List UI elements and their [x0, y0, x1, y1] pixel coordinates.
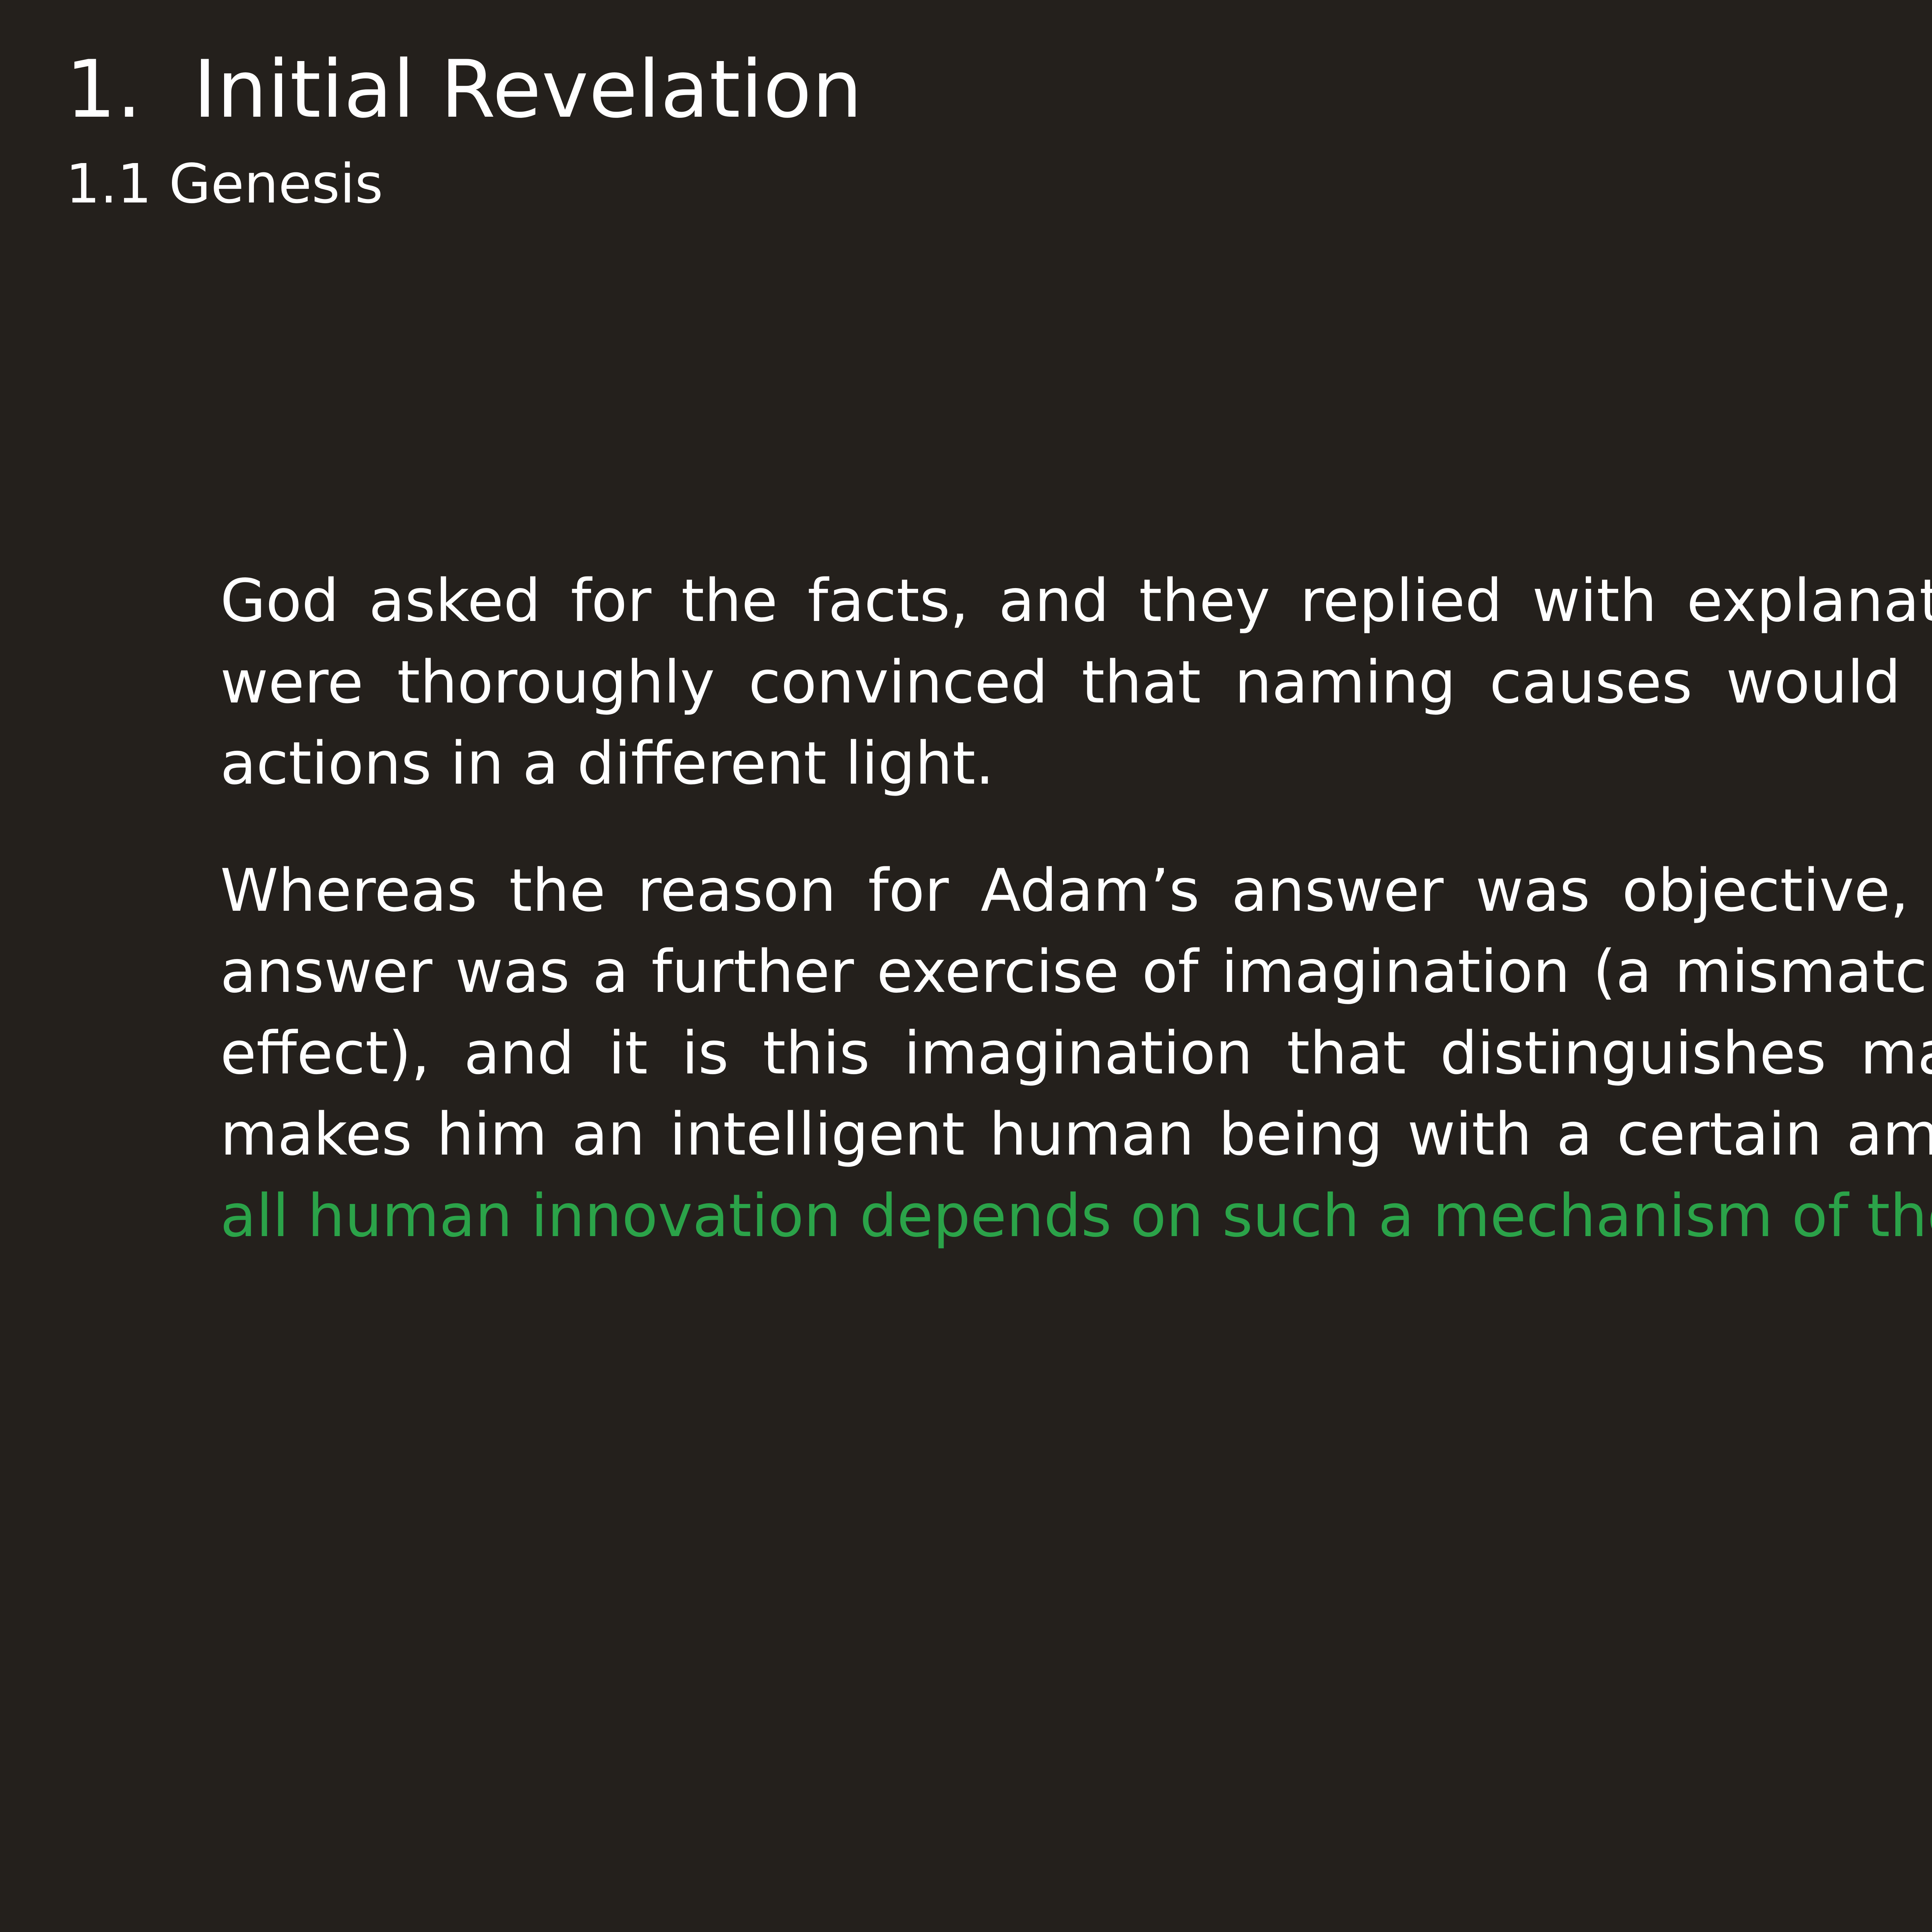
- body-paragraph-1: God asked for the facts, and they replie…: [220, 560, 1932, 804]
- paragraph-2-plain-text: Whereas the reason for Adam’s answer was…: [220, 856, 1932, 1169]
- slide-body: God asked for the facts, and they replie…: [220, 560, 1932, 1257]
- page-subtitle: 1.1 Genesis: [66, 157, 1932, 211]
- slide-header: 1. Initial Revelation 1.1 Genesis: [66, 50, 1932, 211]
- beamer-slide: 1. Initial Revelation 1.1 Genesis God as…: [0, 0, 1932, 1932]
- body-paragraph-2: Whereas the reason for Adam’s answer was…: [220, 850, 1932, 1257]
- paragraph-2-highlight-text: all human innovation depends on such a m…: [220, 1182, 1932, 1250]
- page-title: 1. Initial Revelation: [66, 50, 1932, 129]
